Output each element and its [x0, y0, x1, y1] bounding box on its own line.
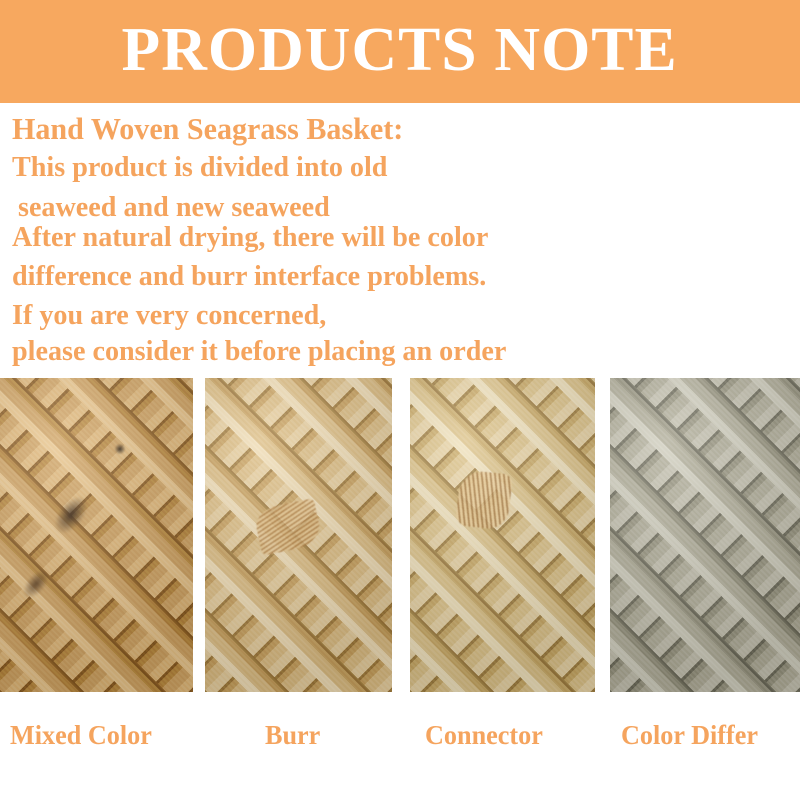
caption-connector: Connector: [425, 720, 543, 751]
page-title: PRODUCTS NOTE: [122, 19, 678, 85]
weave-shading-overlay: [205, 378, 392, 692]
caption-burr: Burr: [265, 720, 320, 751]
header-banner: PRODUCTS NOTE: [0, 0, 800, 103]
note-line-2: seaweed and new seaweed: [18, 191, 330, 224]
note-line-5: If you are very concerned,: [12, 299, 326, 332]
sample-image-connector: [410, 378, 595, 692]
weave-shading-overlay: [0, 378, 193, 692]
sample-image-burr: [205, 378, 392, 692]
note-line-3: After natural drying, there will be colo…: [12, 221, 488, 254]
sample-caption-row: Mixed Color Burr Connector Color Differ: [0, 692, 800, 800]
weave-shading-overlay: [410, 378, 595, 692]
caption-color-differ: Color Differ: [621, 720, 758, 751]
sample-image-color-differ: [610, 378, 800, 692]
caption-mixed-color: Mixed Color: [10, 720, 152, 751]
note-headline: Hand Woven Seagrass Basket:: [12, 111, 403, 147]
sample-image-strip: [0, 378, 800, 692]
weave-shading-overlay: [610, 378, 800, 692]
sample-image-mixed-color: [0, 378, 193, 692]
note-line-6: please consider it before placing an ord…: [12, 335, 506, 368]
note-line-1: This product is divided into old: [12, 151, 387, 184]
product-note-text: Hand Woven Seagrass Basket: This product…: [0, 103, 800, 378]
note-line-4: difference and burr interface problems.: [12, 260, 486, 293]
